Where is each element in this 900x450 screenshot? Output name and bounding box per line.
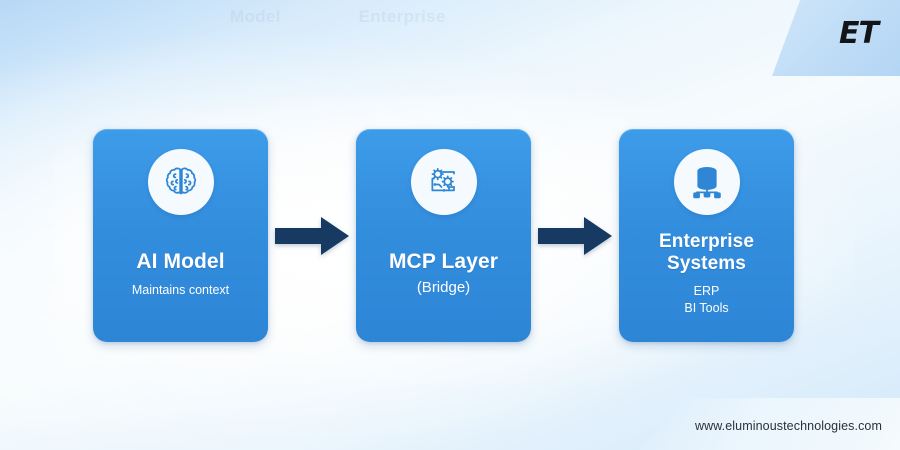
- arrow-right-icon: [268, 214, 356, 258]
- flow-card-mcp-layer[interactable]: MCP Layer (Bridge): [356, 129, 531, 342]
- flow-card-mcp-layer-title: MCP Layer: [389, 250, 498, 274]
- flow-card-enterprise-systems[interactable]: Enterprise Systems ERP BI Tools: [619, 129, 794, 342]
- flow-card-enterprise-systems-title: Enterprise Systems: [659, 231, 754, 274]
- brand-logo-panel: [772, 0, 900, 76]
- brain-icon: [148, 149, 214, 215]
- diagram-canvas: Model Enterprise ET: [0, 0, 900, 450]
- et-logo-icon: ET: [839, 16, 878, 51]
- watermark-text-left: Model: [230, 7, 281, 27]
- gears-circuit-icon: [411, 149, 477, 215]
- flow-card-enterprise-systems-body: Enterprise Systems ERP BI Tools: [619, 215, 794, 342]
- flow-card-mcp-layer-subtitle: (Bridge): [417, 278, 470, 299]
- arrow-right-icon: [531, 214, 619, 258]
- flow-card-ai-model-title: AI Model: [136, 250, 224, 274]
- flow-card-ai-model-body: AI Model Maintains context: [93, 215, 268, 342]
- database-network-icon: [674, 149, 740, 215]
- flow-card-mcp-layer-body: MCP Layer (Bridge): [356, 215, 531, 342]
- flow-card-enterprise-systems-subtitle: ERP BI Tools: [684, 283, 728, 318]
- footer-url-text[interactable]: www.eluminoustechnologies.com: [695, 419, 882, 433]
- watermark-text-right: Enterprise: [359, 7, 446, 27]
- flow-card-ai-model-subtitle: Maintains context: [132, 282, 229, 299]
- process-flow: AI Model Maintains context: [93, 128, 807, 343]
- background-watermark: Model Enterprise: [230, 2, 680, 32]
- flow-card-ai-model[interactable]: AI Model Maintains context: [93, 129, 268, 342]
